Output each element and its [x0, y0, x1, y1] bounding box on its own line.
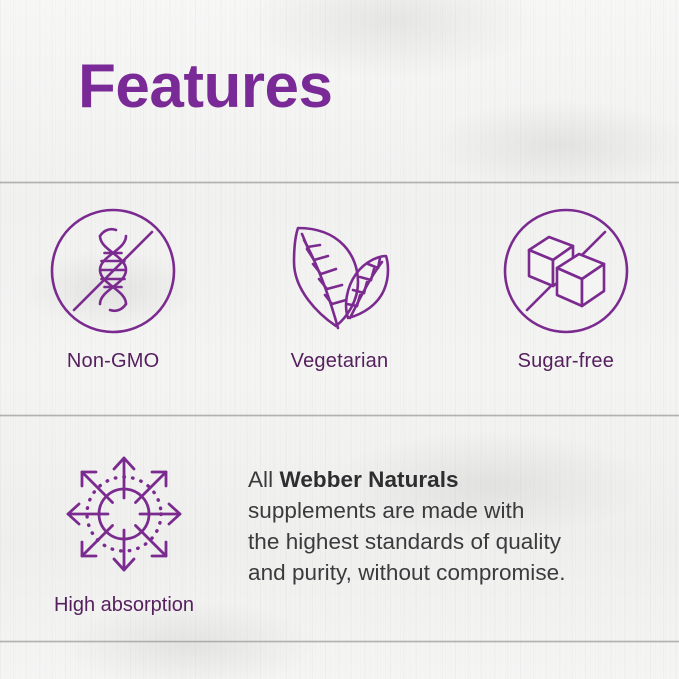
absorption-label: High absorption — [54, 594, 194, 617]
description-column: All Webber Naturals supplements are made… — [248, 440, 590, 588]
plank-seam — [0, 640, 679, 643]
feature-label-non-gmo: Non-GMO — [67, 350, 160, 373]
feature-item-sugar-free[interactable]: Sugar-free — [453, 206, 679, 373]
feature-label-sugar-free: Sugar-free — [518, 350, 615, 373]
absorption-section: High absorption All Webber Naturals supp… — [0, 440, 679, 617]
plank-seam — [0, 414, 679, 417]
description-line-1-prefix: All — [248, 467, 279, 492]
dna-no-gmo-icon — [48, 206, 178, 336]
wood-grain-blotch — [430, 100, 679, 190]
feature-row: Non-GMO — [0, 206, 679, 373]
description-paragraph: All Webber Naturals supplements are made… — [248, 464, 566, 588]
feature-item-non-gmo[interactable]: Non-GMO — [0, 206, 226, 373]
feature-panel: Features — [0, 0, 679, 679]
description-line-4: and purity, without compromise. — [248, 560, 566, 585]
plank-seam — [0, 181, 679, 184]
sugar-cubes-no-sugar-icon — [501, 206, 631, 336]
radiating-arrows-absorption-icon — [58, 448, 190, 580]
feature-item-vegetarian[interactable]: Vegetarian — [226, 206, 452, 373]
page-title: Features — [78, 56, 332, 118]
description-line-2: supplements are made with — [248, 498, 524, 523]
brand-name: Webber Naturals — [279, 467, 458, 492]
absorption-icon-column[interactable]: High absorption — [0, 440, 248, 617]
feature-label-vegetarian: Vegetarian — [291, 350, 389, 373]
leaves-vegetarian-icon — [274, 206, 404, 336]
description-line-3: the highest standards of quality — [248, 529, 561, 554]
